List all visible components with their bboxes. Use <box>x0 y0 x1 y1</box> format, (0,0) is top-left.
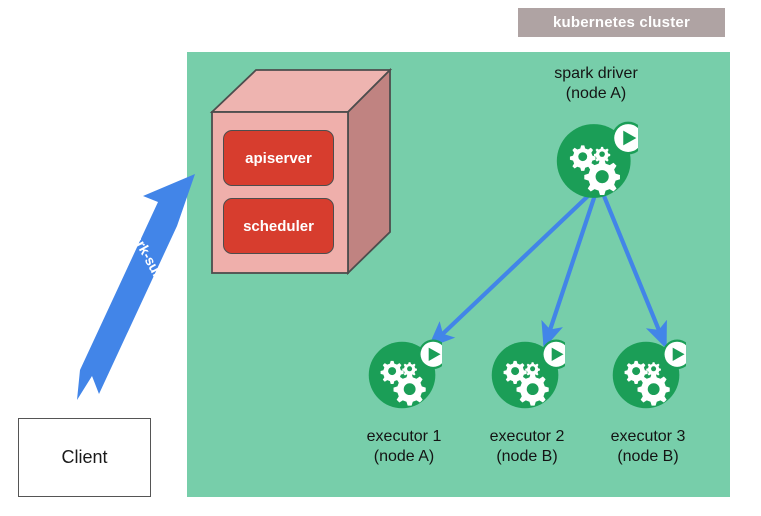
scheduler-chip: scheduler <box>223 198 334 254</box>
kubernetes-cluster-badge: kubernetes cluster <box>518 8 725 37</box>
executor-2-title: executor 2 <box>490 428 565 445</box>
spark-driver-label: spark driver (node A) <box>520 64 672 104</box>
spark-driver-node: (node A) <box>520 84 672 104</box>
spark-submit-arrow <box>55 160 215 410</box>
executor-1-title: executor 1 <box>367 428 442 445</box>
scheduler-label: scheduler <box>243 218 314 235</box>
client-box: Client <box>18 418 151 497</box>
spark-driver-icon[interactable] <box>556 120 638 202</box>
executor-1-icon[interactable] <box>368 338 442 412</box>
apiserver-chip: apiserver <box>223 130 334 186</box>
executor-3-label: executor 3 (node B) <box>574 427 722 467</box>
executor-3-node: (node B) <box>574 447 722 467</box>
executor-3-icon[interactable] <box>612 338 686 412</box>
diagram-canvas: kubernetes cluster spark-submit Client a… <box>0 0 761 516</box>
apiserver-label: apiserver <box>245 150 312 167</box>
client-label: Client <box>61 447 107 468</box>
spark-driver-title: spark driver <box>554 65 638 82</box>
executor-3-title: executor 3 <box>611 428 686 445</box>
executor-2-icon[interactable] <box>491 338 565 412</box>
